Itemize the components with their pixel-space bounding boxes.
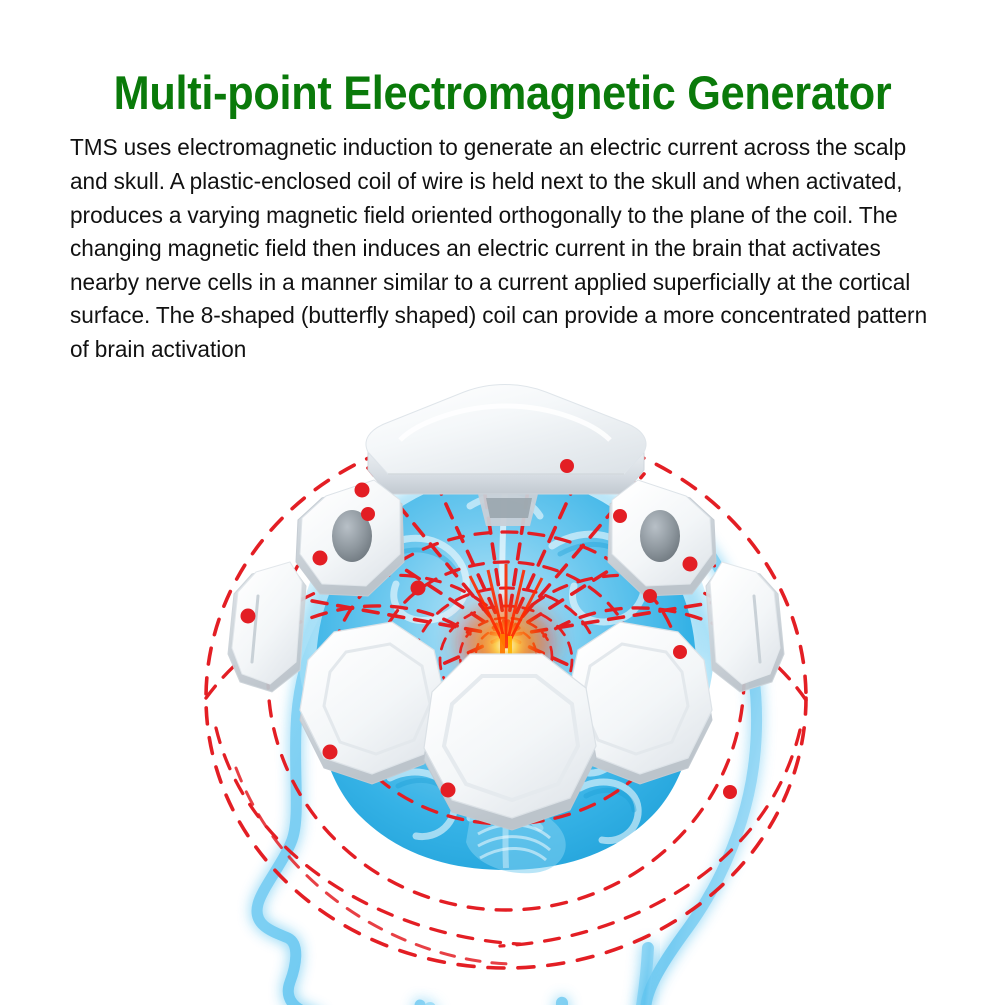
- field-marker-dot: [323, 745, 338, 760]
- right-side-pad[interactable]: [706, 562, 784, 692]
- field-marker-dot: [643, 589, 657, 603]
- field-marker-dot: [613, 509, 627, 523]
- field-marker-dot: [355, 483, 370, 498]
- field-marker-dot: [683, 557, 698, 572]
- field-marker-dot: [673, 645, 687, 659]
- field-marker-dot: [441, 783, 456, 798]
- field-marker-dot: [723, 785, 737, 799]
- emitter-connector-lens: [486, 498, 532, 518]
- field-marker-dot: [411, 581, 426, 596]
- upper-right-pad-lens: [640, 510, 680, 562]
- field-marker-dot: [560, 459, 574, 473]
- field-marker-dot: [361, 507, 375, 521]
- poster-page: Multi-point Electromagnetic Generator TM…: [0, 0, 1005, 1005]
- page-title: Multi-point Electromagnetic Generator: [40, 67, 965, 119]
- field-marker-dot: [313, 551, 328, 566]
- center-electrode[interactable]: [424, 654, 596, 830]
- head-outline-neck-right: [628, 948, 648, 1005]
- device-illustration: [0, 348, 1005, 1005]
- illustration-canvas: [0, 348, 1005, 1005]
- field-marker-dot: [241, 609, 256, 624]
- left-side-pad[interactable]: [228, 562, 306, 692]
- description-paragraph: TMS uses electromagnetic induction to ge…: [70, 131, 935, 366]
